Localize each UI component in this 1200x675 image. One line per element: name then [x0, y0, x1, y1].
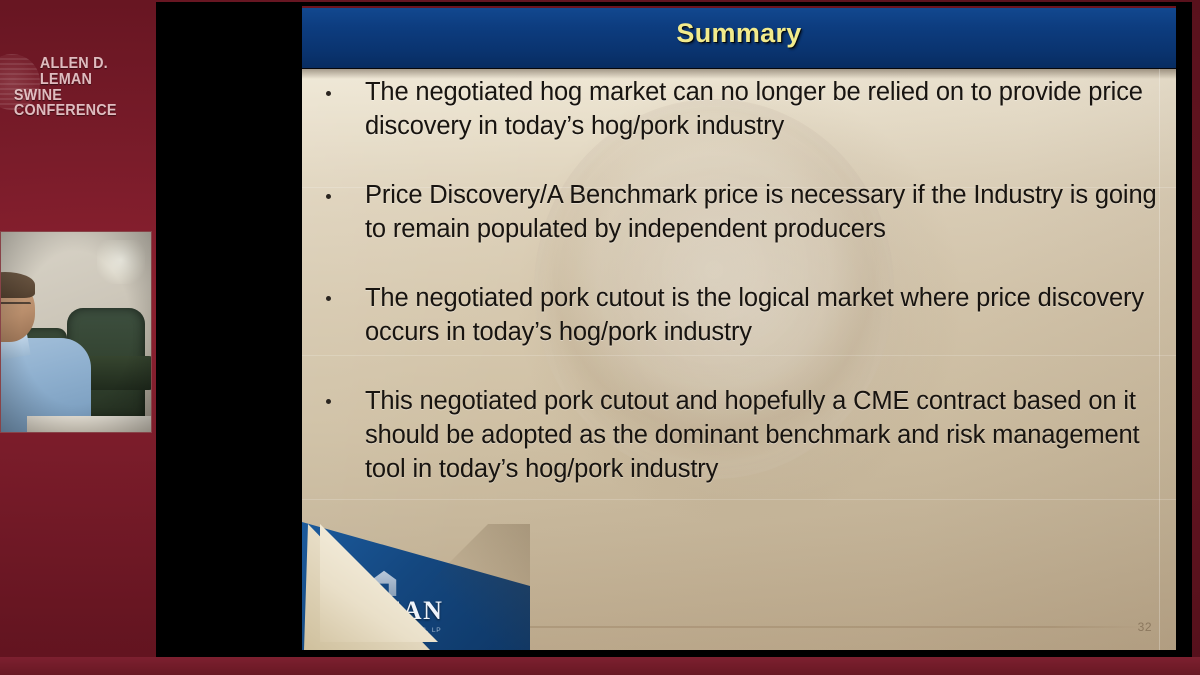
slide-bullet-item: The negotiated hog market can no longer …	[310, 75, 1176, 144]
slide-body: The negotiated hog market can no longer …	[302, 69, 1176, 650]
presentation-stage: ALLEN D. LEMAN SWINE CONFERENCE Summary	[0, 0, 1200, 675]
conference-branding-panel: ALLEN D. LEMAN SWINE CONFERENCE	[0, 0, 156, 675]
bullet-dot-icon	[326, 399, 331, 404]
presenter-video-feed[interactable]	[0, 231, 152, 433]
slide-bullet-list: The negotiated hog market can no longer …	[310, 75, 1176, 521]
bullet-text: This negotiated pork cutout and hopefull…	[365, 384, 1176, 487]
slide-bullet-item: The negotiated pork cutout is the logica…	[310, 281, 1176, 350]
presentation-slide: Summary The negotiated hog market can no…	[302, 6, 1176, 650]
bullet-text: The negotiated pork cutout is the logica…	[365, 281, 1176, 350]
bullet-dot-icon	[326, 194, 331, 199]
video-vignette	[1, 232, 151, 432]
slide-corner-curl: McVEAN TRADING & INVESTMENTS, LP	[302, 522, 530, 650]
bullet-text: The negotiated hog market can no longer …	[365, 75, 1176, 144]
slide-title: Summary	[302, 18, 1176, 49]
conference-name-line2: SWINE CONFERENCE	[12, 88, 152, 120]
slide-bullet-item: Price Discovery/A Benchmark price is nec…	[310, 178, 1176, 247]
slide-viewport[interactable]: Summary The negotiated hog market can no…	[156, 2, 1192, 657]
conference-name-line1: ALLEN D. LEMAN	[12, 56, 152, 88]
conference-logo: ALLEN D. LEMAN SWINE CONFERENCE	[0, 48, 156, 118]
bullet-dot-icon	[326, 296, 331, 301]
slide-page-number: 32	[1138, 620, 1152, 634]
bottom-accent-strip	[0, 657, 1200, 675]
bullet-dot-icon	[326, 91, 331, 96]
bullet-text: Price Discovery/A Benchmark price is nec…	[365, 178, 1176, 247]
slide-bullet-item: This negotiated pork cutout and hopefull…	[310, 384, 1176, 487]
slide-title-band: Summary	[302, 6, 1176, 69]
conference-name: ALLEN D. LEMAN SWINE CONFERENCE	[12, 56, 156, 119]
